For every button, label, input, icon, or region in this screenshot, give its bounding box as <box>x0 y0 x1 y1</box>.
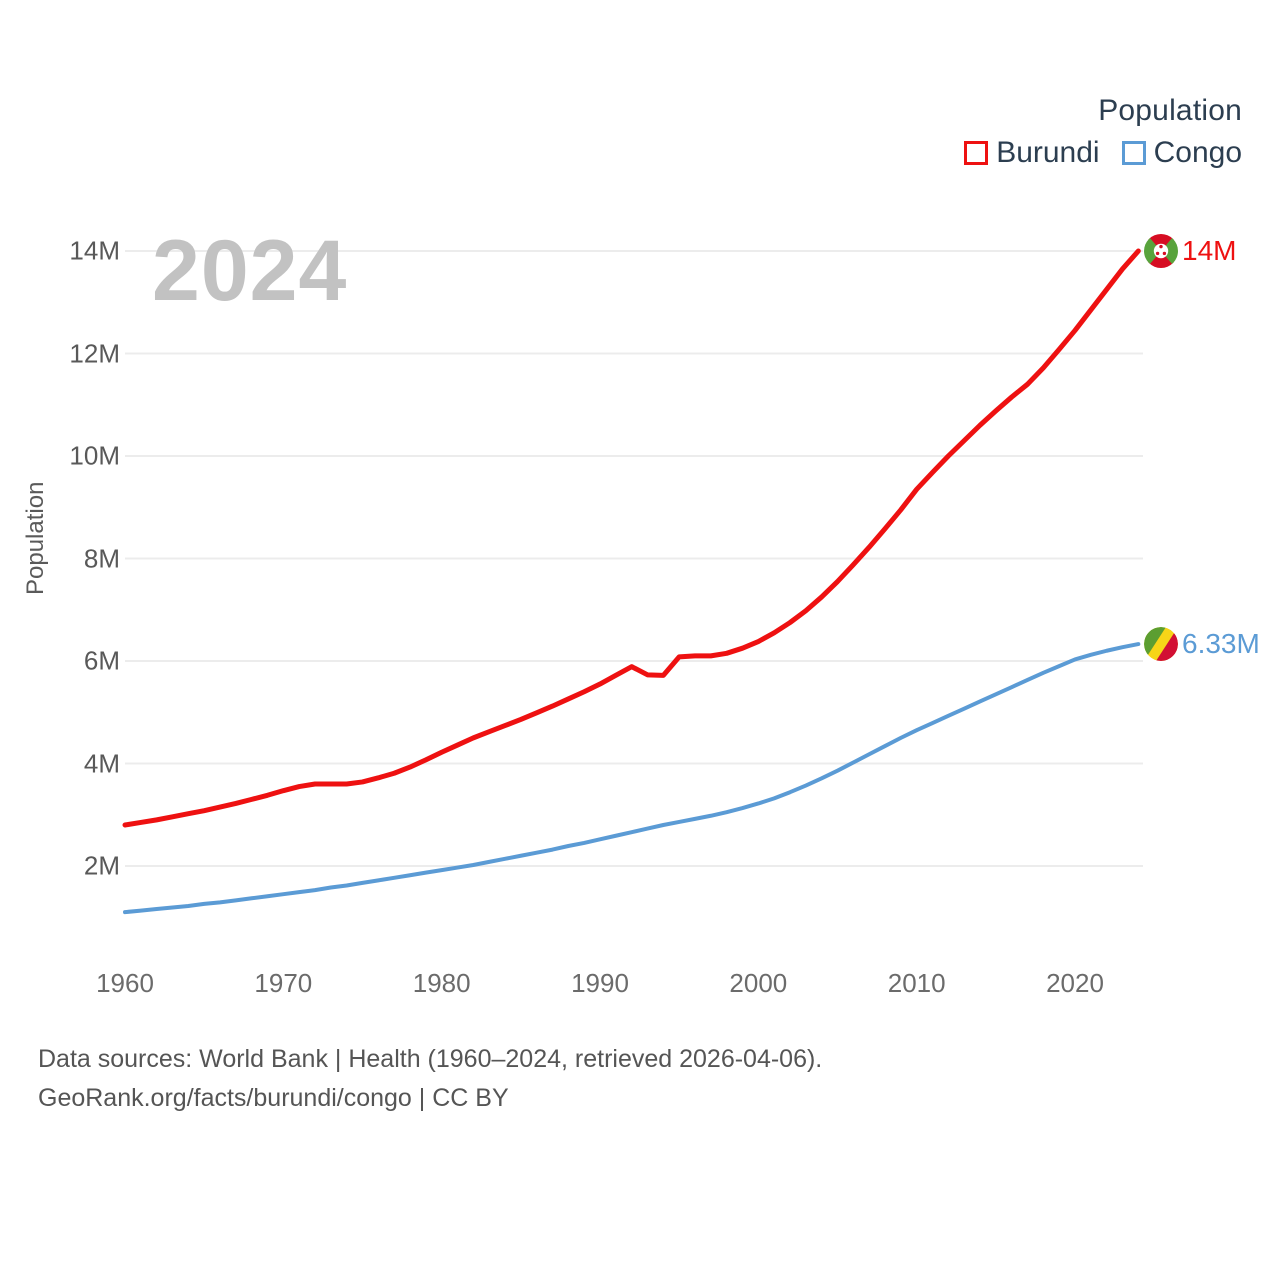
burundi-flag-icon <box>1144 234 1178 268</box>
congo-flag-icon <box>1144 627 1178 661</box>
y-tick-label: 12M <box>8 338 120 369</box>
legend-swatch-congo <box>1122 141 1146 165</box>
end-marker-burundi: 14M <box>1144 234 1236 268</box>
y-tick-label: 8M <box>8 543 120 574</box>
y-tick-label: 4M <box>8 748 120 779</box>
end-marker-congo: 6.33M <box>1144 627 1260 661</box>
x-tick-label: 2020 <box>1046 968 1104 999</box>
gridlines <box>125 251 1143 866</box>
chart-page: 2024 Population 2M4M6M8M10M12M14M 196019… <box>0 0 1280 1280</box>
x-tick-label: 1960 <box>96 968 154 999</box>
legend-swatch-burundi <box>964 141 988 165</box>
series-line-congo <box>125 644 1138 912</box>
legend: Population Burundi Congo <box>964 96 1242 168</box>
y-axis-title: Population <box>22 482 50 595</box>
legend-items: Burundi Congo <box>964 138 1242 168</box>
y-tick-label: 14M <box>8 236 120 267</box>
x-tick-label: 1980 <box>413 968 471 999</box>
legend-title: Population <box>964 96 1242 126</box>
y-tick-label: 2M <box>8 851 120 882</box>
y-tick-label: 10M <box>8 441 120 472</box>
footer-line-1: Data sources: World Bank | Health (1960–… <box>38 1040 822 1079</box>
footer-line-2: GeoRank.org/facts/burundi/congo | CC BY <box>38 1079 822 1118</box>
legend-label-congo: Congo <box>1154 138 1242 168</box>
footer-attribution: Data sources: World Bank | Health (1960–… <box>38 1040 822 1118</box>
legend-label-burundi: Burundi <box>996 138 1099 168</box>
series-line-burundi <box>125 251 1138 825</box>
year-watermark: 2024 <box>152 228 347 314</box>
x-tick-label: 1970 <box>254 968 312 999</box>
end-value-congo: 6.33M <box>1182 630 1260 658</box>
series-lines <box>125 251 1138 912</box>
x-tick-label: 2000 <box>729 968 787 999</box>
x-tick-label: 2010 <box>888 968 946 999</box>
legend-item-burundi[interactable]: Burundi <box>964 138 1099 168</box>
x-tick-label: 1990 <box>571 968 629 999</box>
y-tick-label: 6M <box>8 646 120 677</box>
end-value-burundi: 14M <box>1182 237 1236 265</box>
legend-item-congo[interactable]: Congo <box>1122 138 1242 168</box>
